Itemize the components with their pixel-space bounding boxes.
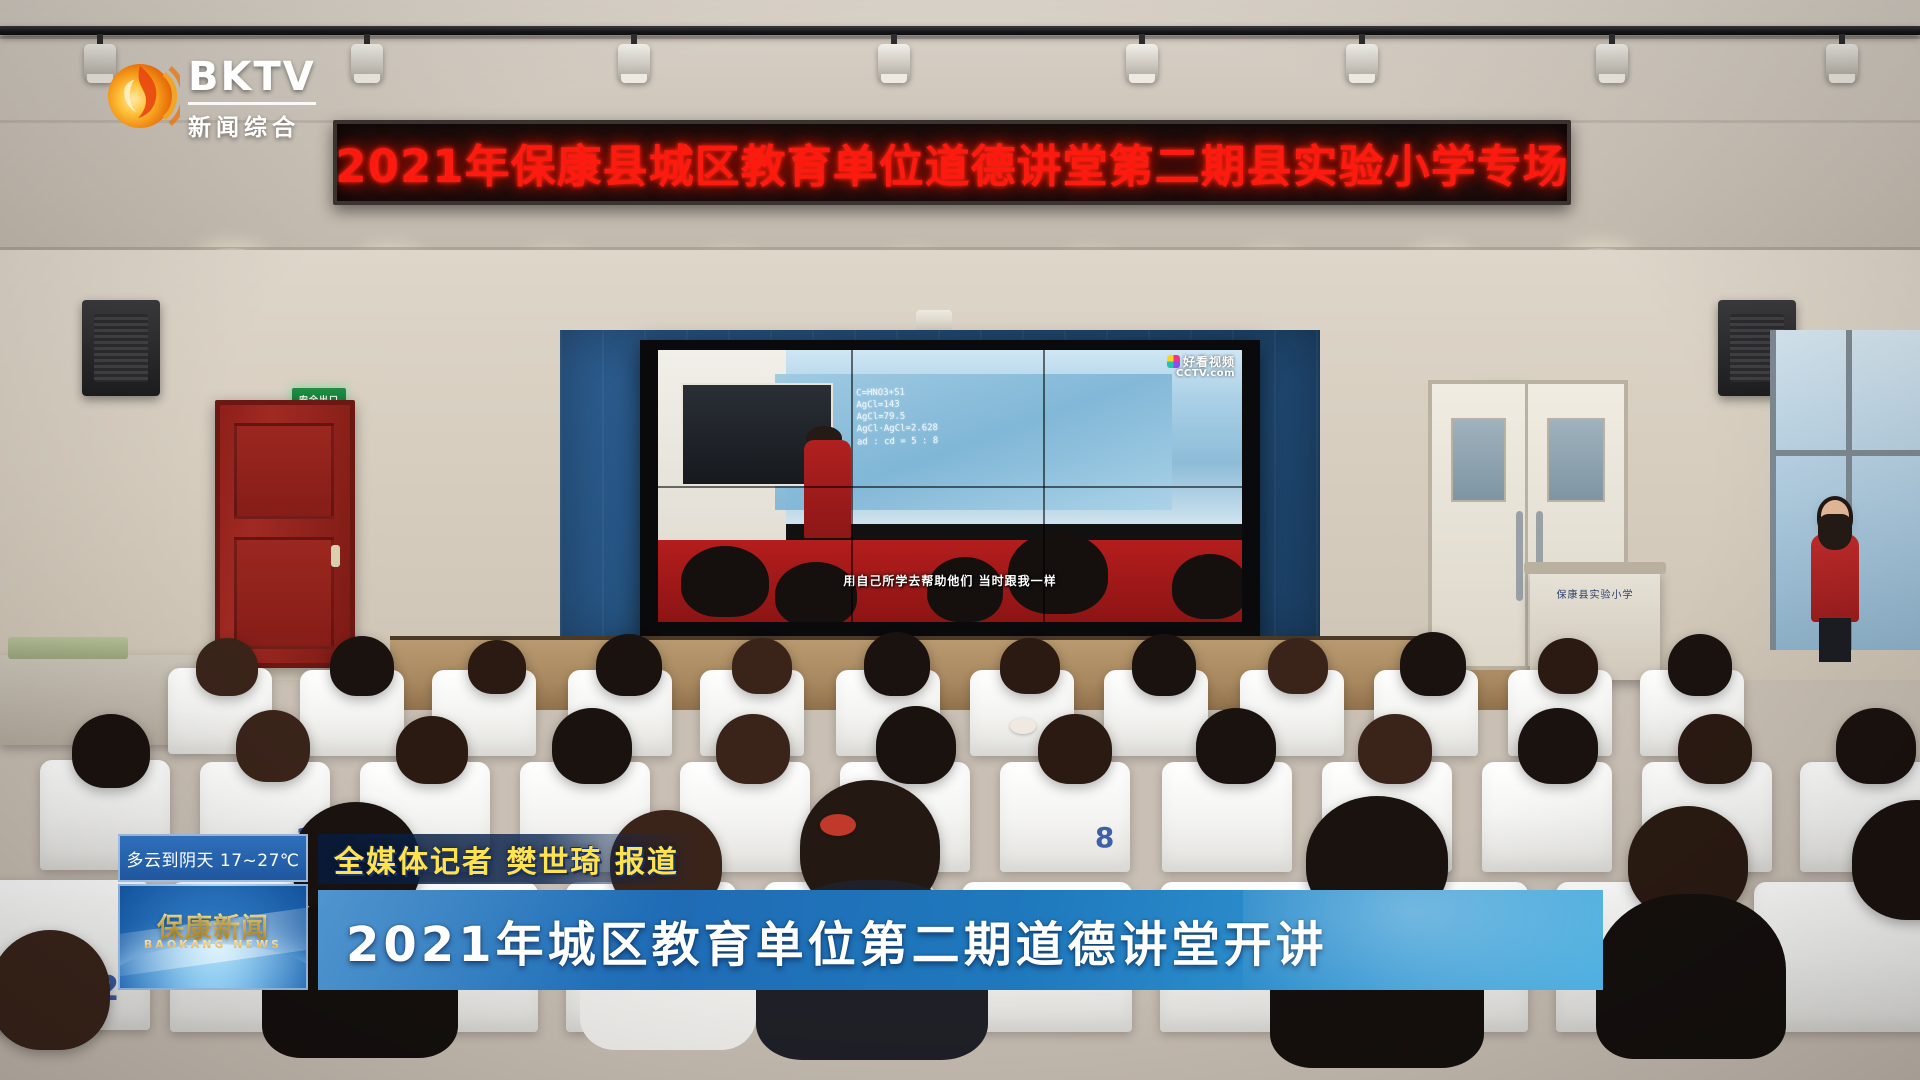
audience-head [1518,708,1598,784]
audience-head [1836,708,1916,784]
reporter-credit-text: 全媒体记者 樊世琦 报道 [334,837,679,881]
audience-head [1132,634,1196,696]
audience-shoulders [1596,894,1786,1059]
audience-head [236,710,310,782]
broadcast-frame: 2021年保康县城区教育单位道德讲堂第二期县实验小学专场 安全出口 安全出口 C… [0,0,1920,1080]
audience-head [468,640,526,694]
audience-head [330,636,394,696]
audience-head [1668,634,1732,696]
wall-speaker [82,300,160,396]
door-handle-icon [331,545,340,567]
video-blackboard-writing: C=HNO3+S1 AgCl=143 AgCl=79.5 AgCl·AgCl=2… [856,383,1138,502]
video-teacher-body [804,440,851,538]
video-subtitle: 用自己所学去帮助他们 当时跟我一样 [658,572,1242,589]
audience-head [1196,708,1276,784]
spotlight-icon [345,34,389,86]
spotlight-icon [1340,34,1384,86]
watermark-subtitle: CCTV.com [1167,369,1235,380]
chair-number: 8 [1095,821,1114,854]
audience-head [716,714,790,784]
audience-head [596,634,662,696]
audience-head [0,930,110,1050]
watermark-logo-icon [1167,355,1180,368]
headline-text: 2021年城区教育单位第二期道德讲堂开讲 [346,905,1328,975]
headline-bar: 2021年城区教育单位第二期道德讲堂开讲 [318,890,1603,990]
audience-head [396,716,468,784]
red-door [215,400,355,668]
audience-head [1678,714,1752,784]
spotlight-icon [612,34,656,86]
audience-head [72,714,150,788]
audience-head [732,638,792,694]
channel-subtitle: 新闻综合 [188,108,316,142]
lower-third-left: 多云到阴天 17~27℃ 保康新闻 BAOKANG NEWS [118,834,308,990]
video-watermark: 好看视频 CCTV.com [1167,355,1235,379]
spotlight-icon [872,34,916,86]
spotlight-icon [1590,34,1634,86]
spotlight-icon [1820,34,1864,86]
flame-phoenix-icon [106,56,180,132]
spotlight-icon [1120,34,1164,86]
podium-sign-text: 保康县实验小学 [1538,584,1652,602]
video-audience-head [775,562,857,622]
channel-name: BKTV [188,54,316,100]
audience-head [196,638,258,696]
channel-logo: BKTV 新闻综合 [106,52,316,144]
audience-head [552,708,632,784]
video-wall-screen: C=HNO3+S1 AgCl=143 AgCl=79.5 AgCl·AgCl=2… [658,350,1242,622]
audience-head [1268,638,1328,694]
audience-head [1000,638,1060,694]
audience-head [876,706,956,784]
program-name-en: BAOKANG NEWS [120,938,306,951]
reporter-credit-bar: 全媒体记者 樊世琦 报道 [318,834,695,884]
audience-head [1358,714,1432,784]
hair-bow [820,814,856,836]
audience-head [864,632,930,696]
hair-bow [1010,718,1036,734]
audience-head [1538,638,1598,694]
weather-text: 多云到阴天 17~27℃ [126,846,299,871]
audience-head [1400,632,1466,696]
logo-divider [188,102,316,105]
led-banner: 2021年保康县城区教育单位道德讲堂第二期县实验小学专场 [333,120,1571,205]
led-banner-text: 2021年保康县城区教育单位道德讲堂第二期县实验小学专场 [335,130,1568,195]
weather-box: 多云到阴天 17~27℃ [118,834,308,882]
projector-icon [916,310,952,332]
program-logo-box: 保康新闻 BAOKANG NEWS [118,884,308,990]
watermark-title: 好看视频 [1183,355,1235,369]
audience-head [1038,714,1112,784]
door-handle-icon [1516,511,1523,601]
